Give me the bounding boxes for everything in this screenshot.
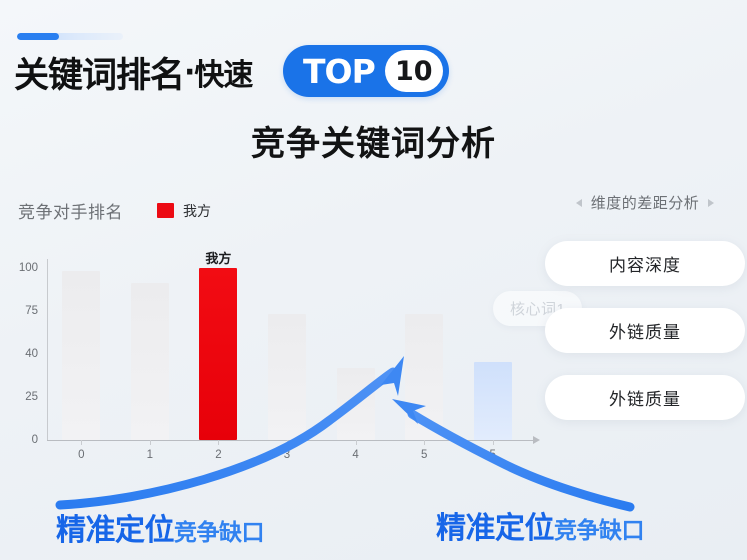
- headline-row: 关键词排名 · 快速: [14, 44, 252, 100]
- bar: [268, 314, 306, 440]
- dimension-card-list: 内容深度外链质量外链质量: [545, 241, 745, 420]
- dimension-gap-panel: 维度的差距分析 内容深度外链质量外链质量: [545, 192, 745, 420]
- bar: [474, 362, 512, 440]
- x-axis-tick: [287, 440, 288, 445]
- y-axis-tick-label: 0: [32, 434, 38, 446]
- legend-swatch-icon: [157, 203, 174, 218]
- legend-entry-me: 我方: [157, 201, 211, 221]
- bar: [405, 314, 443, 440]
- top-rank-badge: TOP 10: [283, 45, 449, 97]
- panel-heading-text: 维度的差距分析: [591, 192, 700, 213]
- dimension-card-label: 外链质量: [609, 318, 681, 343]
- x-axis-tick-label: 5: [490, 449, 496, 461]
- x-axis-tick: [218, 440, 219, 445]
- chart-plot-area: [47, 259, 527, 440]
- caption-right-strong: 精准定位: [436, 503, 554, 547]
- dimension-card-label: 外链质量: [609, 385, 681, 410]
- bar: [337, 368, 375, 440]
- headline-sub-text: 快速: [194, 50, 252, 94]
- bar: [62, 271, 100, 440]
- x-axis-tick: [150, 440, 151, 445]
- dimension-card[interactable]: 外链质量: [545, 308, 745, 353]
- chevron-left-icon[interactable]: [576, 199, 582, 207]
- dimension-card[interactable]: 外链质量: [545, 375, 745, 420]
- panel-heading-row: 维度的差距分析: [545, 192, 745, 213]
- chart-legend: 竞争对手排名 我方: [18, 198, 211, 223]
- x-axis-tick-label: 1: [147, 449, 153, 461]
- caption-left-weak: 竞争缺口: [174, 513, 264, 547]
- x-axis-tick-label: 3: [284, 449, 290, 461]
- y-axis-labels: 1007540250: [0, 245, 38, 440]
- bar-value-label: 我方: [205, 248, 231, 267]
- x-axis-tick-label: 5: [421, 449, 427, 461]
- x-axis-tick: [81, 440, 82, 445]
- progress-bar-track: [17, 33, 123, 40]
- caption-right: 精准定位 竞争缺口: [436, 503, 644, 547]
- badge-number: 10: [385, 50, 443, 92]
- x-axis-tick-label: 4: [352, 449, 358, 461]
- headline-main-text: 关键词排名: [14, 47, 184, 98]
- chart-caption: 竞争对手排名: [18, 198, 123, 223]
- bar-my-side: [199, 268, 237, 440]
- caption-left-strong: 精准定位: [56, 505, 174, 549]
- page-title: 竞争关键词分析: [0, 116, 747, 165]
- legend-label: 我方: [183, 201, 211, 221]
- progress-bar-fill: [17, 33, 59, 40]
- x-axis-tick-label: 2: [215, 449, 221, 461]
- headline-dot: ·: [184, 55, 194, 90]
- x-axis-arrow-icon: [533, 436, 540, 444]
- bar-chart: 1007540250 01我方23455: [0, 245, 560, 470]
- badge-label: TOP: [303, 55, 375, 88]
- chevron-right-icon[interactable]: [708, 199, 714, 207]
- bar: [131, 283, 169, 440]
- y-axis-tick-label: 75: [25, 305, 38, 317]
- caption-left: 精准定位 竞争缺口: [56, 505, 264, 549]
- y-axis-tick-label: 25: [25, 391, 38, 403]
- x-axis-tick: [493, 440, 494, 445]
- dimension-card[interactable]: 内容深度: [545, 241, 745, 286]
- caption-right-weak: 竞争缺口: [554, 511, 644, 545]
- x-axis-line: [47, 440, 533, 441]
- dimension-card-label: 内容深度: [609, 251, 681, 276]
- x-axis-tick-label: 0: [78, 449, 84, 461]
- x-axis-tick: [424, 440, 425, 445]
- y-axis-tick-label: 100: [19, 262, 38, 274]
- x-axis-tick: [356, 440, 357, 445]
- y-axis-tick-label: 40: [25, 348, 38, 360]
